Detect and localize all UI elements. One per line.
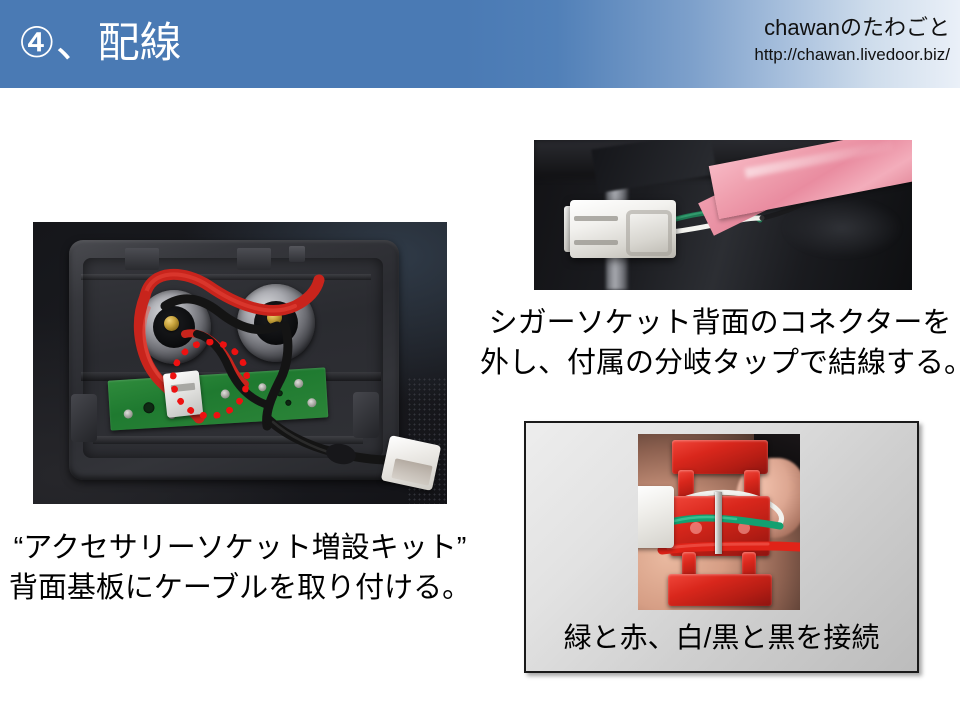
tap-body-bottom — [668, 574, 772, 606]
caption-line: シガーソケット背面のコネクターを — [480, 303, 960, 343]
connector-groove — [574, 240, 618, 245]
caption-line: 背面基板にケーブルを取り付ける。 — [0, 568, 480, 608]
caption-line: “アクセサリーソケット増設キット” — [0, 528, 480, 568]
red-dotted-circle-annotation — [170, 339, 250, 419]
site-name-label: chawanのたわごと — [764, 14, 950, 41]
connector-groove — [626, 210, 672, 256]
slide-canvas: ④、配線 chawanのたわごと http://chawan.livedoor.… — [0, 0, 960, 720]
right-photo-caption: シガーソケット背面のコネクターを 外し、付属の分岐タップで結線する。 — [480, 303, 960, 383]
tap-metal-blade — [715, 492, 722, 554]
caption-line: 外し、付属の分岐タップで結線する。 — [480, 343, 960, 383]
page-title: ④、配線 — [18, 14, 182, 72]
left-photo-caption: “アクセサリーソケット増設キット” 背面基板にケーブルを取り付ける。 — [0, 528, 480, 608]
site-url-label: http://chawan.livedoor.biz/ — [754, 44, 950, 65]
wire-tap-caption: 緑と赤、白/黒と黒を接続 — [526, 613, 917, 663]
red-wire-tap-photo — [638, 434, 800, 610]
white-connector — [638, 486, 674, 548]
socket-back-panel-photo — [33, 222, 447, 504]
wire-tap-callout-box: 緑と赤、白/黒と黒を接続 — [524, 421, 919, 673]
connector-groove — [574, 216, 618, 221]
header-bar: ④、配線 chawanのたわごと http://chawan.livedoor.… — [0, 0, 960, 88]
cigar-socket-connector-photo — [534, 140, 912, 290]
